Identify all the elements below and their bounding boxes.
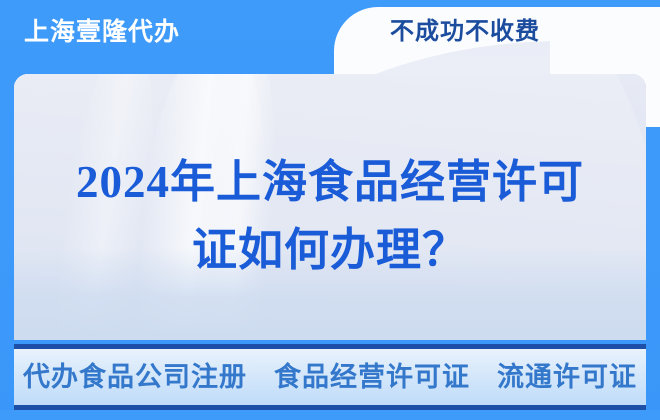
keyword-item-2: 食品经营许可证	[274, 362, 470, 392]
keyword-bar: 代办食品公司注册 食品经营许可证 流通许可证	[14, 344, 646, 410]
page-title: 2024年上海食品经营许可 证如何办理？	[14, 148, 646, 285]
page-title-line-1: 2024年上海食品经营许可	[14, 148, 646, 216]
keyword-item-1: 代办食品公司注册	[23, 362, 247, 392]
page-title-line-2: 证如何办理？	[14, 216, 646, 284]
poster-canvas: 上海壹隆代办 不成功不收费 2024年上海食品经营许可 证如何办理？ 代办食品公…	[0, 0, 660, 420]
slogan-text: 不成功不收费	[390, 20, 540, 44]
bottom-blue-strip	[0, 410, 660, 420]
keyword-list: 代办食品公司注册 食品经营许可证 流通许可证	[23, 364, 637, 391]
keyword-item-3: 流通许可证	[497, 362, 637, 392]
brand-title: 上海壹隆代办	[24, 20, 180, 45]
